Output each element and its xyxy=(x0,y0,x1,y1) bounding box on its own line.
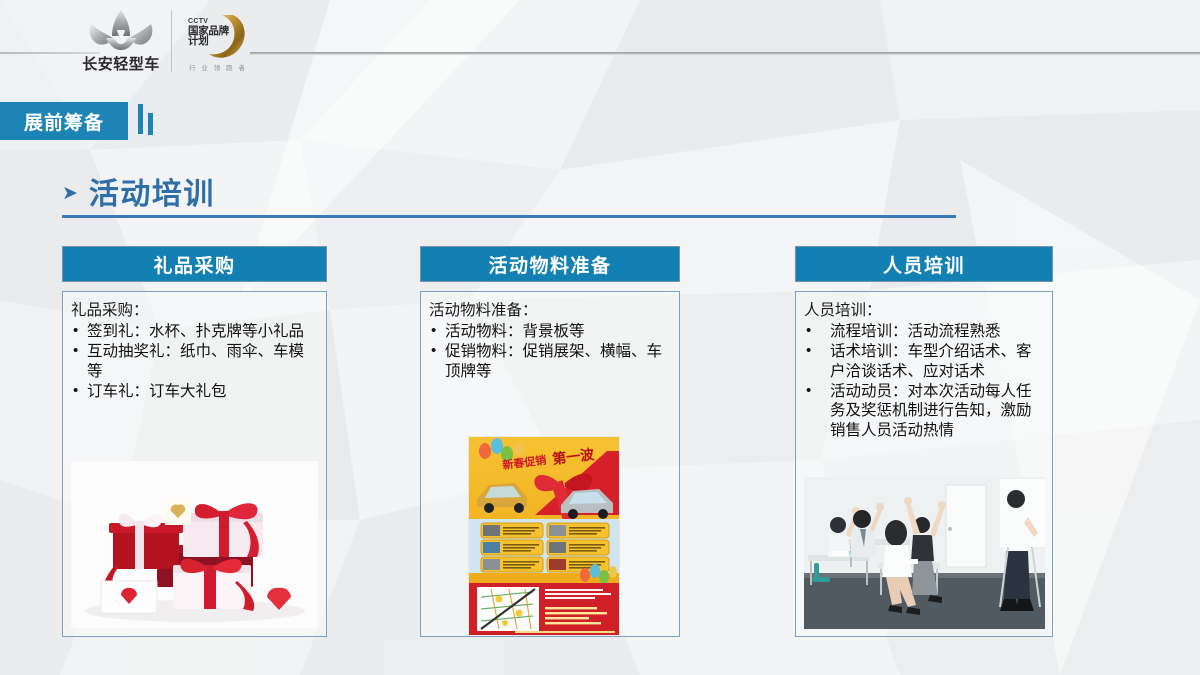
training-classroom-photo xyxy=(804,477,1045,629)
list-item: 话术培训：车型介绍话术、客户洽谈话术、应对话术 xyxy=(804,342,1044,382)
changan-emblem-icon xyxy=(84,8,158,52)
section-banner-label: 展前筹备 xyxy=(0,102,128,140)
card-body-staff-training: 人员培训： 流程培训：活动流程熟悉 话术培训：车型介绍话术、客户洽谈话术、应对话… xyxy=(795,291,1053,637)
list-item: 促销物料：促销展架、横幅、车顶牌等 xyxy=(429,342,671,382)
card-bullet-list: 活动物料：背景板等 促销物料：促销展架、横幅、车顶牌等 xyxy=(429,322,671,381)
card-body-gift-purchase: 礼品采购： 签到礼：水杯、扑克牌等小礼品 互动抽奖礼：纸巾、雨伞、车模等 订车礼… xyxy=(62,291,327,637)
cctv-subtitle: 行 业 领 跑 者 xyxy=(181,62,255,72)
card-header-staff-training: 人员培训 xyxy=(795,246,1053,282)
logo-group: 长安轻型车 CCTV xyxy=(78,4,258,78)
banner-tick-tall xyxy=(138,104,143,134)
changan-wordmark: 长安轻型车 xyxy=(78,53,164,74)
list-item: 流程培训：活动流程熟悉 xyxy=(804,322,1044,342)
card-bullet-list: 流程培训：活动流程熟悉 话术培训：车型介绍话术、客户洽谈话术、应对话术 活动动员… xyxy=(804,322,1044,441)
card-lead-text: 人员培训： xyxy=(804,301,1044,321)
list-item: 活动物料：背景板等 xyxy=(429,322,671,342)
card-material-preparation: 活动物料准备 活动物料准备： 活动物料：背景板等 促销物料：促销展架、横幅、车顶… xyxy=(420,246,680,637)
banner-tick-marks xyxy=(138,102,153,140)
cctv-cn-line2: 计划 xyxy=(188,36,230,47)
title-underline xyxy=(62,215,956,218)
list-item: 互动抽奖礼：纸巾、雨伞、车模等 xyxy=(71,342,318,382)
card-header-material-preparation: 活动物料准备 xyxy=(420,246,680,282)
promotion-poster-photo: 新春促销 第一波 xyxy=(468,436,620,636)
card-lead-text: 礼品采购： xyxy=(71,301,318,321)
card-gift-purchase: 礼品采购 礼品采购： 签到礼：水杯、扑克牌等小礼品 互动抽奖礼：纸巾、雨伞、车模… xyxy=(62,246,327,637)
slide-header: 长安轻型车 CCTV xyxy=(0,0,1200,85)
changan-logo: 长安轻型车 xyxy=(78,8,164,74)
logo-divider xyxy=(171,10,172,72)
cctv-label: CCTV xyxy=(188,18,230,25)
card-body-material-preparation: 活动物料准备： 活动物料：背景板等 促销物料：促销展架、横幅、车顶牌等 xyxy=(420,291,680,637)
cctv-brand-logo: CCTV 国家品牌 计划 行 业 领 跑 者 xyxy=(181,11,255,72)
page-title-block: ➤ 活动培训 xyxy=(62,168,956,218)
page-title: 活动培训 xyxy=(89,180,215,210)
list-item: 签到礼：水杯、扑克牌等小礼品 xyxy=(71,322,318,342)
card-lead-text: 活动物料准备： xyxy=(429,301,671,321)
card-bullet-list: 签到礼：水杯、扑克牌等小礼品 互动抽奖礼：纸巾、雨伞、车模等 订车礼：订车大礼包 xyxy=(71,322,318,401)
card-header-gift-purchase: 礼品采购 xyxy=(62,246,327,282)
header-rule-right xyxy=(250,52,1200,55)
list-item: 活动动员：对本次活动每人任务及奖惩机制进行告知，激励销售人员活动热情 xyxy=(804,382,1044,441)
arrow-bullet-icon: ➤ xyxy=(62,184,78,210)
card-staff-training: 人员培训 人员培训： 流程培训：活动流程熟悉 话术培训：车型介绍话术、客户洽谈话… xyxy=(795,246,1053,637)
section-banner-row: 展前筹备 xyxy=(0,102,153,140)
gift-boxes-photo xyxy=(71,461,318,628)
banner-tick-short xyxy=(148,113,153,135)
list-item: 订车礼：订车大礼包 xyxy=(71,382,318,402)
